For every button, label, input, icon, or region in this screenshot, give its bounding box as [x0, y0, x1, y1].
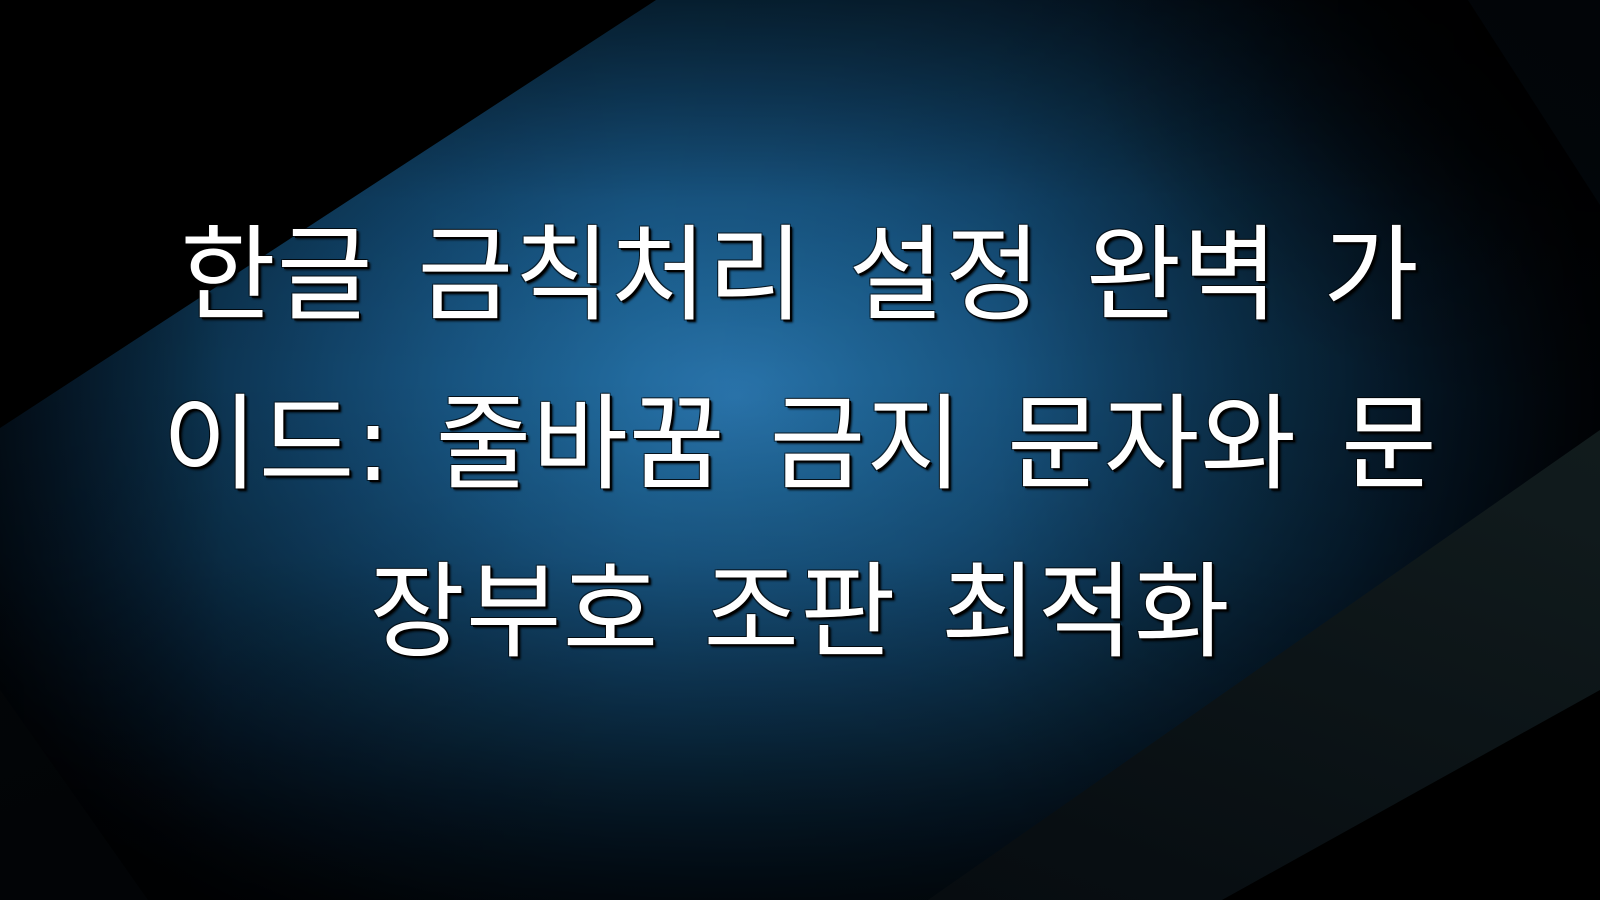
slide-title-line-2: 이드: 줄바꿈 금지 문자와 문	[80, 360, 1520, 528]
slide-title: 한글 금칙처리 설정 완벽 가 이드: 줄바꿈 금지 문자와 문 장부호 조판 …	[80, 191, 1520, 696]
title-container: 한글 금칙처리 설정 완벽 가 이드: 줄바꿈 금지 문자와 문 장부호 조판 …	[0, 0, 1600, 900]
slide-title-line-1: 한글 금칙처리 설정 완벽 가	[80, 191, 1520, 359]
title-slide: 한글 금칙처리 설정 완벽 가 이드: 줄바꿈 금지 문자와 문 장부호 조판 …	[0, 0, 1600, 900]
slide-title-line-3: 장부호 조판 최적화	[80, 528, 1520, 696]
